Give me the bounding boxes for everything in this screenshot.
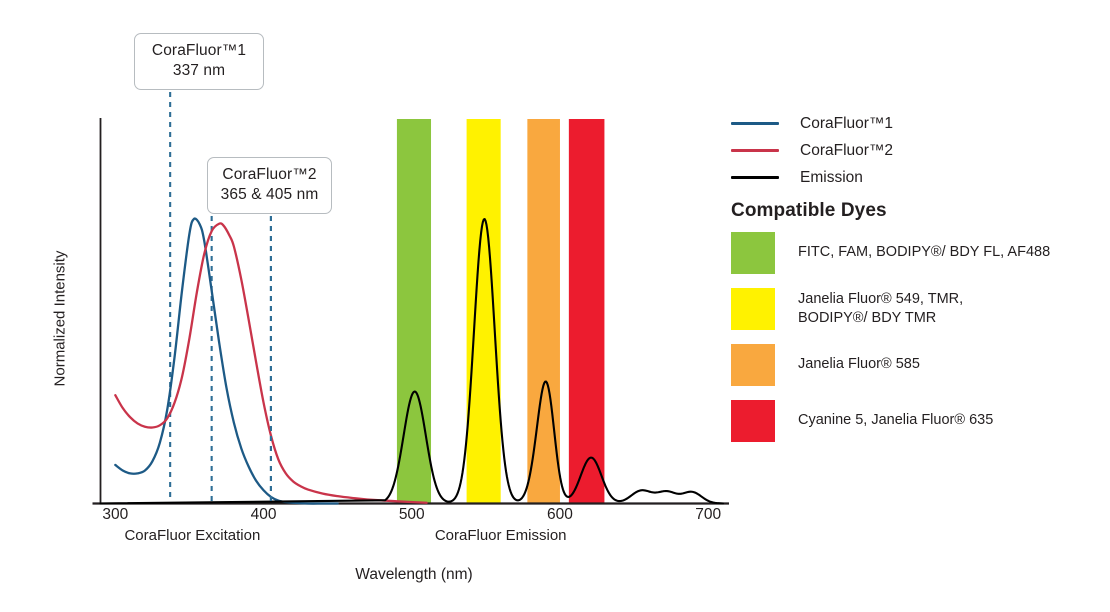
dye-label-green-line1: FITC, FAM, BODIPY®/ BDY FL, AF488	[798, 244, 1050, 260]
spectra-figure: CoraFluor™1 337 nm CoraFluor™2 365 & 405…	[0, 0, 1110, 612]
callout-corafluor1: CoraFluor™1 337 nm	[134, 33, 264, 90]
callout-corafluor2: CoraFluor™2 365 & 405 nm	[207, 157, 332, 214]
emission-band-yellow-band	[467, 119, 501, 504]
callout-corafluor1-line2: 337 nm	[147, 61, 251, 81]
legend-label-corafluor2: CoraFluor™2	[800, 142, 893, 160]
callout-corafluor2-line2: 365 & 405 nm	[220, 185, 319, 205]
dye-label-green: FITC, FAM, BODIPY®/ BDY FL, AF488	[798, 243, 1050, 262]
dye-row-yellow: Janelia Fluor® 549, TMR, BODIPY®/ BDY TM…	[731, 288, 1101, 330]
dye-label-yellow-line1: Janelia Fluor® 549, TMR,	[798, 291, 963, 307]
y-axis-title: Normalized Intensity	[52, 224, 69, 414]
dye-row-red: Cyanine 5, Janelia Fluor® 635	[731, 400, 1101, 442]
excitation-curve-corafluor1	[115, 219, 337, 504]
x-axis-tick-300: 300	[85, 506, 145, 524]
dye-label-red: Cyanine 5, Janelia Fluor® 635	[798, 411, 993, 430]
legend-item-emission: Emission	[731, 164, 1091, 191]
x-axis-tick-500: 500	[382, 506, 442, 524]
callout-corafluor1-line1: CoraFluor™1	[147, 41, 251, 61]
dye-color-swatch-yellow	[731, 288, 775, 330]
x-axis-region-label-emission: CoraFluor Emission	[371, 527, 631, 544]
emission-band-red-band	[569, 119, 605, 504]
x-axis-tick-700: 700	[678, 506, 738, 524]
dye-label-orange: Janelia Fluor® 585	[798, 355, 920, 374]
legend-label-emission: Emission	[800, 169, 863, 187]
series-legend: CoraFluor™1 CoraFluor™2 Emission	[731, 110, 1091, 191]
compatible-dyes-title: Compatible Dyes	[731, 200, 887, 222]
x-axis-tick-400: 400	[234, 506, 294, 524]
legend-label-corafluor1: CoraFluor™1	[800, 115, 893, 133]
legend-line-swatch-corafluor2	[731, 149, 779, 152]
dye-row-orange: Janelia Fluor® 585	[731, 344, 1101, 386]
x-axis-title: Wavelength (nm)	[0, 566, 828, 584]
dye-row-green: FITC, FAM, BODIPY®/ BDY FL, AF488	[731, 232, 1101, 274]
dye-label-yellow: Janelia Fluor® 549, TMR, BODIPY®/ BDY TM…	[798, 290, 963, 328]
dye-color-swatch-orange	[731, 344, 775, 386]
compatible-dyes-list: FITC, FAM, BODIPY®/ BDY FL, AF488 Janeli…	[731, 232, 1101, 456]
dye-color-swatch-green	[731, 232, 775, 274]
x-axis-tick-600: 600	[530, 506, 590, 524]
legend-line-swatch-corafluor1	[731, 122, 779, 125]
legend-item-corafluor1: CoraFluor™1	[731, 110, 1091, 137]
dye-label-yellow-line2: BODIPY®/ BDY TMR	[798, 310, 936, 326]
dye-label-red-line1: Cyanine 5, Janelia Fluor® 635	[798, 412, 993, 428]
dye-label-orange-line1: Janelia Fluor® 585	[798, 356, 920, 372]
callout-corafluor2-line1: CoraFluor™2	[220, 165, 319, 185]
legend-item-corafluor2: CoraFluor™2	[731, 137, 1091, 164]
legend-line-swatch-emission	[731, 176, 779, 179]
x-axis-region-label-excitation: CoraFluor Excitation	[62, 527, 322, 544]
dye-color-swatch-red	[731, 400, 775, 442]
